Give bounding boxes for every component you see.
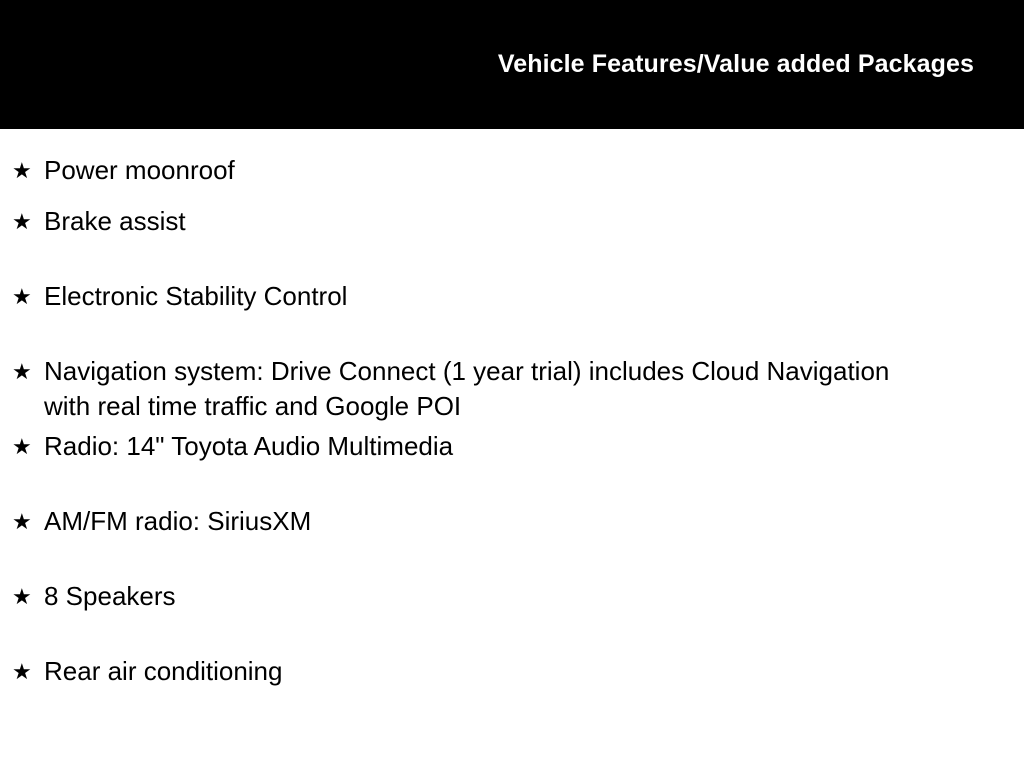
list-item: ★ Radio: 14" Toyota Audio Multimedia: [0, 429, 1024, 504]
star-bullet-icon: ★: [12, 279, 36, 314]
list-item: ★ AM/FM radio: SiriusXM: [0, 504, 1024, 579]
star-bullet-icon: ★: [12, 504, 36, 539]
feature-label: Radio: 14" Toyota Audio Multimedia: [44, 429, 914, 464]
star-bullet-icon: ★: [12, 429, 36, 464]
feature-label: Electronic Stability Control: [44, 279, 914, 314]
feature-label: 8 Speakers: [44, 579, 914, 614]
list-item: ★ Electronic Stability Control: [0, 279, 1024, 354]
vehicle-features-section: ★ Power moonroof ★ Brake assist ★ Electr…: [0, 129, 1024, 729]
star-bullet-icon: ★: [12, 654, 36, 689]
list-item: ★ 8 Speakers: [0, 579, 1024, 654]
star-bullet-icon: ★: [12, 354, 36, 389]
page-title: Vehicle Features/Value added Packages: [498, 51, 974, 79]
list-item: ★ Power moonroof: [0, 129, 1024, 204]
star-bullet-icon: ★: [12, 204, 36, 239]
list-item: ★ Navigation system: Drive Connect (1 ye…: [0, 354, 1024, 429]
page-header-bar: Vehicle Features/Value added Packages: [0, 0, 1024, 129]
list-item: ★ Brake assist: [0, 204, 1024, 279]
feature-label: Navigation system: Drive Connect (1 year…: [44, 354, 914, 424]
star-bullet-icon: ★: [12, 579, 36, 614]
feature-label: AM/FM radio: SiriusXM: [44, 504, 914, 539]
feature-label: Brake assist: [44, 204, 914, 239]
feature-list: ★ Power moonroof ★ Brake assist ★ Electr…: [0, 129, 1024, 729]
star-bullet-icon: ★: [12, 153, 36, 188]
feature-label: Power moonroof: [44, 153, 914, 188]
list-item: ★ Rear air conditioning: [0, 654, 1024, 729]
feature-label: Rear air conditioning: [44, 654, 914, 689]
